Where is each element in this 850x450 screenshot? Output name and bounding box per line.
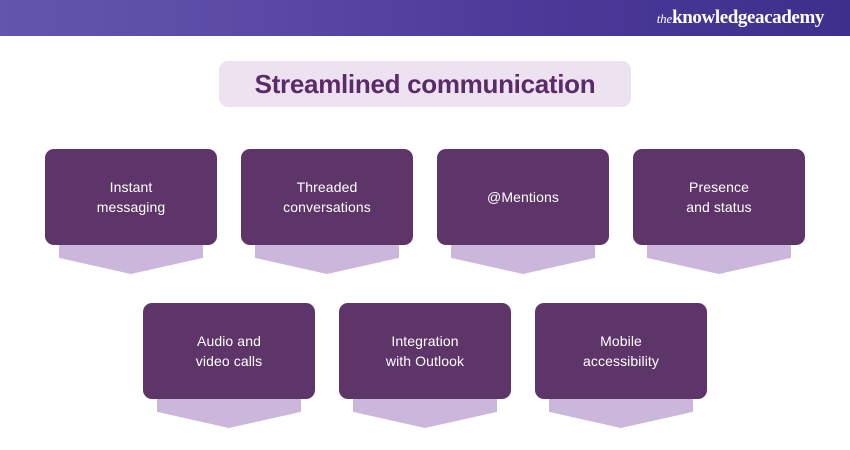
card-integration-with-outlook[interactable]: Integration with Outlook bbox=[339, 303, 511, 423]
card-audio-and-video-calls[interactable]: Audio and video calls bbox=[143, 303, 315, 423]
card-body[interactable]: Instant messaging bbox=[45, 149, 217, 245]
header-bar: theknowledgeacademy bbox=[0, 0, 850, 36]
card-body[interactable]: Audio and video calls bbox=[143, 303, 315, 399]
card-body[interactable]: Mobile accessibility bbox=[535, 303, 707, 399]
card-row-1: Instant messaging Threaded conversations… bbox=[0, 149, 850, 269]
logo-the-text: the bbox=[657, 11, 672, 27]
card-body[interactable]: Threaded conversations bbox=[241, 149, 413, 245]
logo-knowledge-text: knowledge bbox=[672, 7, 755, 29]
card-body[interactable]: @Mentions bbox=[437, 149, 609, 245]
card-threaded-conversations[interactable]: Threaded conversations bbox=[241, 149, 413, 269]
infographic-page: theknowledgeacademy Streamlined communic… bbox=[0, 0, 850, 450]
card-label: Audio and video calls bbox=[188, 331, 270, 371]
card-mentions[interactable]: @Mentions bbox=[437, 149, 609, 269]
brand-logo: theknowledgeacademy bbox=[657, 7, 850, 29]
card-presence-and-status[interactable]: Presence and status bbox=[633, 149, 805, 269]
page-title: Streamlined communication bbox=[255, 69, 596, 100]
card-label: @Mentions bbox=[479, 187, 567, 207]
card-mobile-accessibility[interactable]: Mobile accessibility bbox=[535, 303, 707, 423]
card-instant-messaging[interactable]: Instant messaging bbox=[45, 149, 217, 269]
card-label: Mobile accessibility bbox=[575, 331, 667, 371]
card-body[interactable]: Integration with Outlook bbox=[339, 303, 511, 399]
card-label: Threaded conversations bbox=[275, 177, 379, 217]
card-label: Presence and status bbox=[678, 177, 760, 217]
page-title-pill: Streamlined communication bbox=[219, 61, 631, 107]
card-label: Instant messaging bbox=[89, 177, 174, 217]
logo-academy-text: academy bbox=[755, 7, 824, 29]
card-row-2: Audio and video calls Integration with O… bbox=[0, 303, 850, 423]
card-body[interactable]: Presence and status bbox=[633, 149, 805, 245]
card-label: Integration with Outlook bbox=[378, 331, 472, 371]
